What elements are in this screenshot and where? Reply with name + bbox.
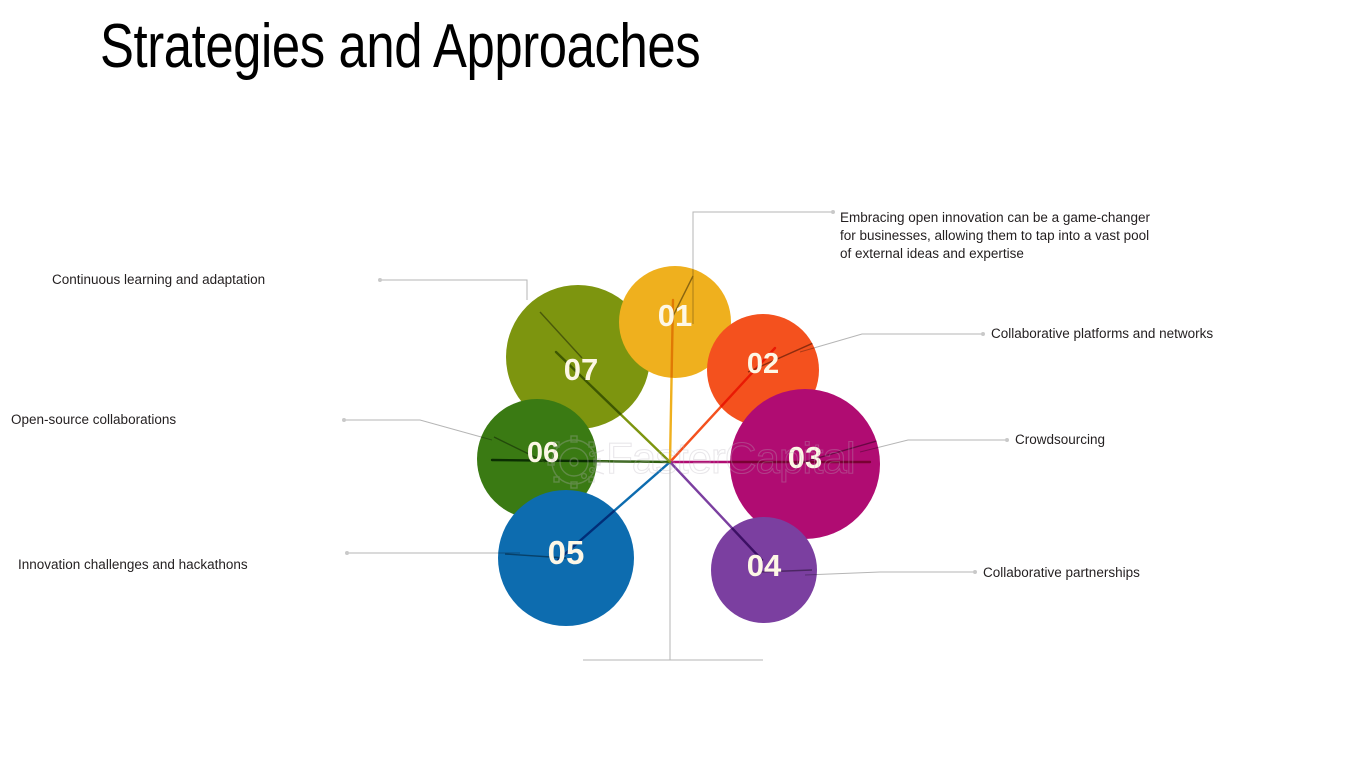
node-circles: [477, 266, 880, 626]
leader-dot-06: [342, 418, 346, 422]
callout-04: Collaborative partnerships: [983, 564, 1283, 582]
callout-05: Innovation challenges and hackathons: [18, 556, 338, 574]
callout-01: Embracing open innovation can be a game-…: [840, 209, 1170, 263]
callout-07: Continuous learning and adaptation: [52, 271, 372, 289]
leader-dot-03: [1005, 438, 1009, 442]
leader-dot-05: [345, 551, 349, 555]
callout-06: Open-source collaborations: [11, 411, 331, 429]
leader-line-03: [860, 440, 1007, 452]
callout-03: Crowdsourcing: [1015, 431, 1315, 449]
leader-line-06: [344, 420, 492, 440]
leader-line-07: [380, 280, 527, 300]
leader-dot-02: [981, 332, 985, 336]
leader-line-02: [800, 334, 983, 352]
node-circle-03: [730, 389, 880, 539]
leader-dot-07: [378, 278, 382, 282]
leader-dot-01: [831, 210, 835, 214]
leader-dot-04: [973, 570, 977, 574]
leader-line-04: [805, 572, 975, 575]
radial-cluster-diagram: 01 02 03 04 05 06 07: [0, 0, 1359, 759]
diagram-canvas: [0, 0, 1359, 759]
leader-dots: [342, 210, 1009, 574]
callout-02: Collaborative platforms and networks: [991, 325, 1291, 343]
